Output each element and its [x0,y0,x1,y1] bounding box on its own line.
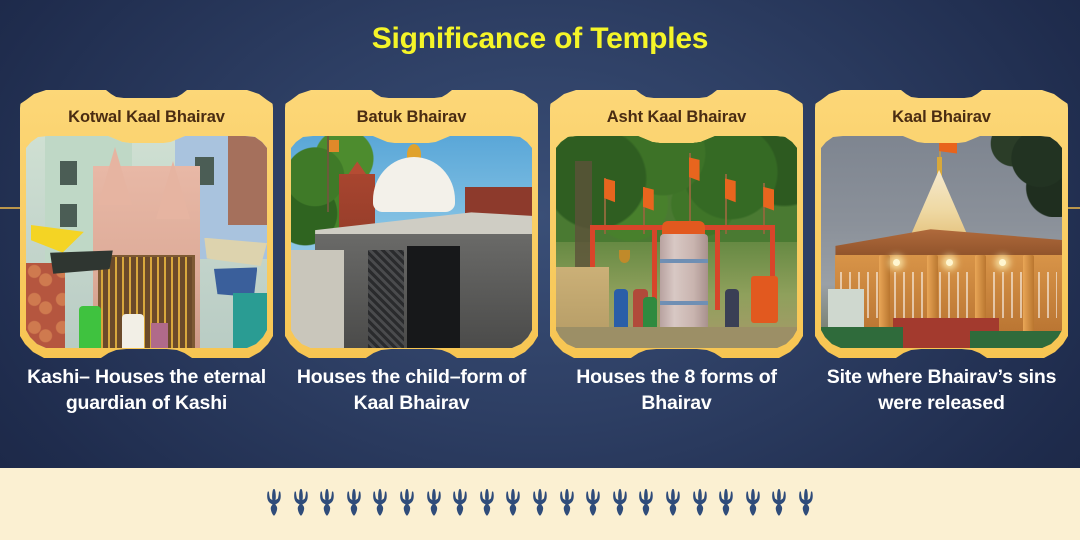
flag-pole-shape [327,136,329,212]
trishul-icon [424,489,444,519]
ground-shape [556,327,797,348]
white-dome-shape [373,157,455,212]
trishul-icon [317,489,337,519]
pillar-band-shape [660,259,708,263]
card-header-label: Asht Kaal Bhairav [550,90,803,138]
shrine-post-shape [715,225,720,310]
temple-doorway-shape [407,246,460,348]
card-caption-kaal-bhairav: Site where Bhairav’s sins were released [815,365,1068,417]
trishul-icon [610,489,630,519]
saffron-flag-shape [939,140,957,157]
trishul-icon [583,489,603,519]
footer-ornament-band [0,468,1080,540]
card-header-label: Batuk Bhairav [285,90,538,138]
trishul-icon [690,489,710,519]
temple-card-batuk-bhairav[interactable]: Batuk Bhairav [285,90,538,358]
trishul-icon [397,489,417,519]
tree-foliage-shape [966,136,1062,217]
side-wall-shape [291,250,344,348]
wooden-column-shape [879,255,890,336]
trishul-icon [291,489,311,519]
card-photo-kaal-bhairav [821,136,1062,348]
card-photo-kotwal-kaal-bhairav [26,136,267,348]
temple-railing-shape [101,257,193,348]
trishul-icon [557,489,577,519]
orange-drum-shape [751,276,778,323]
wooden-column-shape [1023,255,1034,336]
metal-grill-shape [368,250,404,348]
trishul-icon [530,489,550,519]
trishul-icon [716,489,736,519]
temple-spire-shape [98,147,132,205]
card-caption-kotwal-kaal-bhairav: Kashi– Houses the eternal guardian of Ka… [20,365,273,417]
temple-card-kotwal-kaal-bhairav[interactable]: Kotwal Kaal Bhairav [20,90,273,358]
temple-bell-shape [619,250,630,263]
card-caption-batuk-bhairav: Houses the child–form of Kaal Bhairav [285,365,538,417]
pillar-band-shape [660,301,708,305]
temple-card-asht-kaal-bhairav[interactable]: Asht Kaal Bhairav [550,90,803,358]
card-caption-asht-kaal-bhairav: Houses the 8 forms of Bhairav [550,365,803,417]
temple-card-kaal-bhairav[interactable]: Kaal Bhairav [815,90,1068,358]
slide-canvas: Significance of Temples Kotwal Kaal Bhai… [0,0,1080,540]
trishul-icon [769,489,789,519]
brick-building-shape [228,136,267,225]
page-title: Significance of Temples [0,22,1080,56]
card-header-label: Kaal Bhairav [815,90,1068,138]
green-drape-shape [821,327,903,348]
trishul-icon [743,489,763,519]
green-drape-shape [970,331,1062,348]
trishul-icon [450,489,470,519]
trishul-icon [503,489,523,519]
trishul-icon [477,489,497,519]
teal-awning-shape [233,293,267,348]
trishul-icon [344,489,364,519]
trishul-row [264,489,816,519]
trishul-icon [796,489,816,519]
trishul-icon [636,489,656,519]
card-photo-batuk-bhairav [291,136,532,348]
card-header-label: Kotwal Kaal Bhairav [20,90,273,138]
trishul-icon [370,489,390,519]
person-shape [151,323,168,348]
wall-mural-shape [26,263,65,348]
temple-spire-shape [156,161,190,219]
person-shape [122,314,144,348]
card-photo-asht-kaal-bhairav [556,136,797,348]
left-gold-rule [0,207,22,209]
person-shape [79,306,101,348]
trishul-icon [264,489,284,519]
trishul-icon [663,489,683,519]
